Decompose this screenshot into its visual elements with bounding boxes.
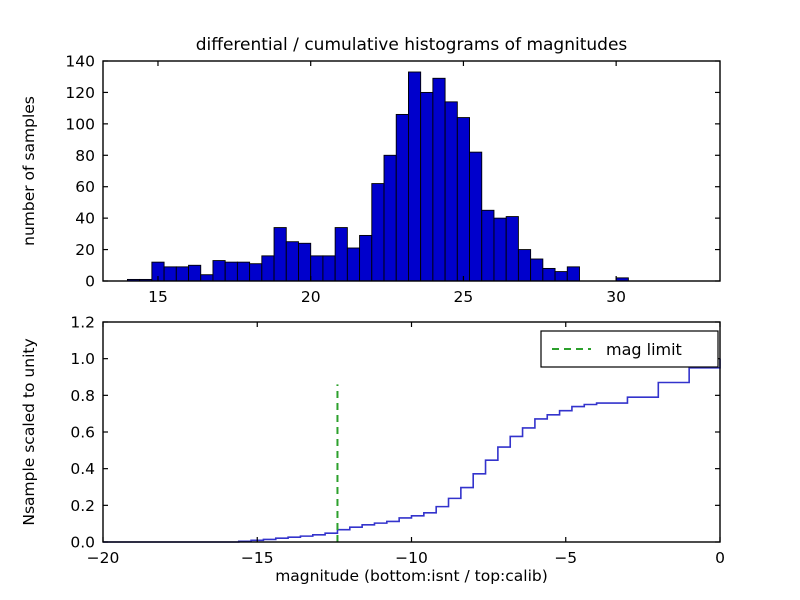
legend[interactable]: mag limit xyxy=(541,331,718,367)
histogram-bar xyxy=(482,210,494,281)
bottom-y-tick-label: 1.2 xyxy=(70,314,95,332)
top-y-axis-label: number of samples xyxy=(20,96,38,246)
bottom-x-tick-label: −20 xyxy=(87,549,120,567)
top-x-tick-label: 15 xyxy=(148,288,168,306)
histogram-bar xyxy=(201,275,213,281)
histogram-bar xyxy=(213,261,225,281)
histogram-bar xyxy=(323,256,335,281)
top-y-tick-label: 80 xyxy=(75,147,95,165)
histogram-bar xyxy=(567,267,579,281)
top-y-tick-label: 40 xyxy=(75,210,95,228)
top-y-tick-label: 60 xyxy=(75,178,95,196)
bottom-x-tick-label: 0 xyxy=(715,549,725,567)
histogram-bar xyxy=(384,155,396,281)
bottom-y-tick-label: 1.0 xyxy=(70,350,95,368)
top-y-tick-label: 20 xyxy=(75,241,95,259)
top-y-tick-label: 120 xyxy=(65,84,95,102)
bottom-y-tick-label: 0.6 xyxy=(70,424,95,442)
bottom-y-tick-label: 0.4 xyxy=(70,460,95,478)
bottom-x-tick-label: −10 xyxy=(395,549,428,567)
bottom-x-tick-label: −5 xyxy=(554,549,577,567)
histogram-bar xyxy=(506,217,518,281)
figure-canvas: 15202530 020406080100120140 differential… xyxy=(0,0,800,600)
histogram-bar xyxy=(518,250,530,281)
histogram-bar xyxy=(543,268,555,281)
histogram-bar xyxy=(408,72,420,281)
histogram-bar xyxy=(494,218,506,281)
histogram-bar xyxy=(237,262,249,281)
histogram-bar xyxy=(189,265,201,281)
top-x-tick-label: 25 xyxy=(454,288,474,306)
histogram-bar xyxy=(298,243,310,281)
bottom-axes: −20−15−10−50 0.00.20.40.60.81.01.2 magni… xyxy=(20,314,725,586)
bottom-y-tick-label: 0.8 xyxy=(70,387,95,405)
histogram-bar xyxy=(470,152,482,281)
histogram-bar xyxy=(433,78,445,281)
histogram-bar xyxy=(262,256,274,281)
histogram-bar xyxy=(360,235,372,281)
bottom-x-tick-label: −15 xyxy=(241,549,274,567)
histogram-bar xyxy=(274,228,286,281)
histogram-bar xyxy=(347,248,359,281)
histogram-bar xyxy=(396,114,408,281)
histogram-bar xyxy=(555,272,567,281)
histogram-bar xyxy=(250,264,262,281)
matplotlib-figure: 15202530 020406080100120140 differential… xyxy=(0,0,800,600)
legend-label-mag-limit: mag limit xyxy=(606,340,682,359)
page-title: differential / cumulative histograms of … xyxy=(196,35,628,55)
histogram-bar xyxy=(372,184,384,281)
top-y-tick-label: 0 xyxy=(85,273,95,291)
histogram-bar xyxy=(457,118,469,281)
histogram-bar xyxy=(445,102,457,281)
histogram-bar xyxy=(225,262,237,281)
top-x-tick-label: 20 xyxy=(301,288,321,306)
bottom-y-axis-label: Nsample scaled to unity xyxy=(20,338,38,525)
histogram-bar xyxy=(176,267,188,281)
bottom-x-axis-label: magnitude (bottom:isnt / top:calib) xyxy=(275,567,548,585)
histogram-bar xyxy=(311,256,323,281)
bottom-y-tick-label: 0.2 xyxy=(70,497,95,515)
histogram-bar xyxy=(531,259,543,281)
histogram-bar xyxy=(286,242,298,281)
top-y-tick-label: 100 xyxy=(65,115,95,133)
histogram-bar xyxy=(421,92,433,281)
bottom-y-tick-label: 0.0 xyxy=(70,534,95,552)
histogram-bar xyxy=(335,228,347,281)
top-x-tick-label: 30 xyxy=(606,288,626,306)
top-y-tick-label: 140 xyxy=(65,53,95,71)
histogram-bar xyxy=(164,267,176,281)
top-axes: 15202530 020406080100120140 differential… xyxy=(20,35,720,306)
